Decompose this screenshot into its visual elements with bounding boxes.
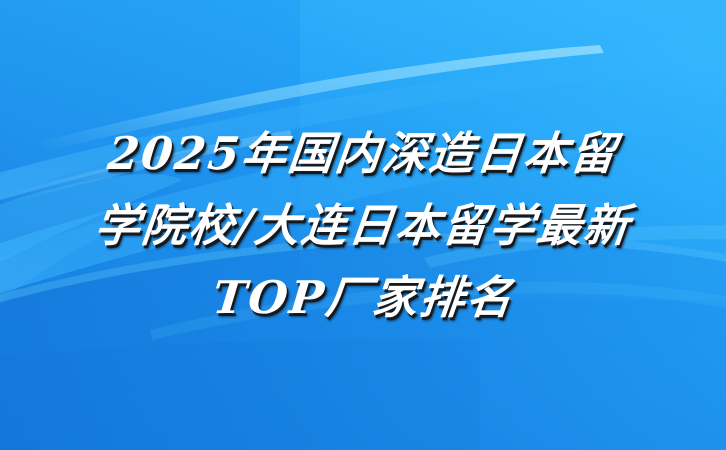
title-line-2: 学院校/大连日本留学最新 — [91, 190, 634, 262]
promo-banner: 2025年国内深造日本留 学院校/大连日本留学最新 TOP厂家排名 — [0, 0, 726, 450]
banner-title-block: 2025年国内深造日本留 学院校/大连日本留学最新 TOP厂家排名 — [0, 0, 726, 450]
title-line-3: TOP厂家排名 — [209, 262, 517, 334]
title-line-1: 2025年国内深造日本留 — [105, 118, 622, 190]
